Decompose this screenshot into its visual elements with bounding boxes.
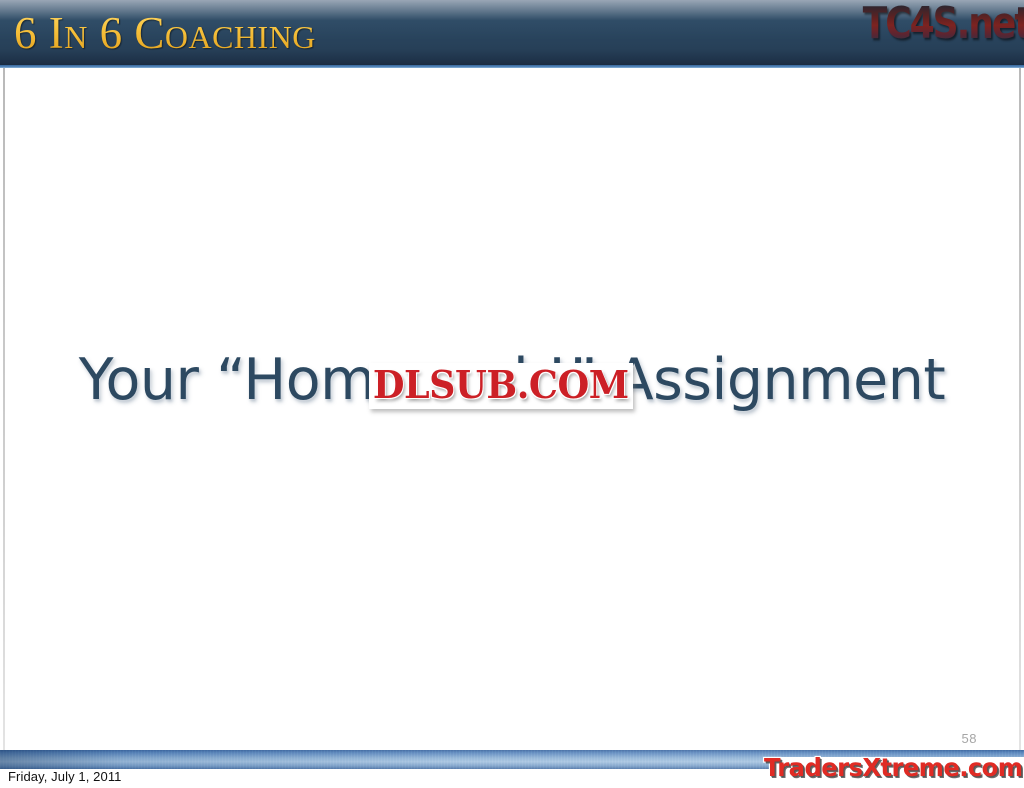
slide-header: 6 In 6 Coaching 6 In 6 Coaching TC4S.net <box>0 0 1024 68</box>
slide-canvas: 6 In 6 Coaching 6 In 6 Coaching TC4S.net… <box>0 0 1024 788</box>
tc4s-brand-logo: TC4S.net <box>863 0 1024 52</box>
dlsub-watermark: DLSUB.COM <box>369 363 633 409</box>
footer-date: Friday, July 1, 2011 <box>8 769 122 784</box>
page-number: 58 <box>962 731 977 746</box>
header-title: 6 In 6 Coaching <box>14 4 316 62</box>
tradersxtreme-logo: TradersXtreme.com <box>764 753 1022 783</box>
